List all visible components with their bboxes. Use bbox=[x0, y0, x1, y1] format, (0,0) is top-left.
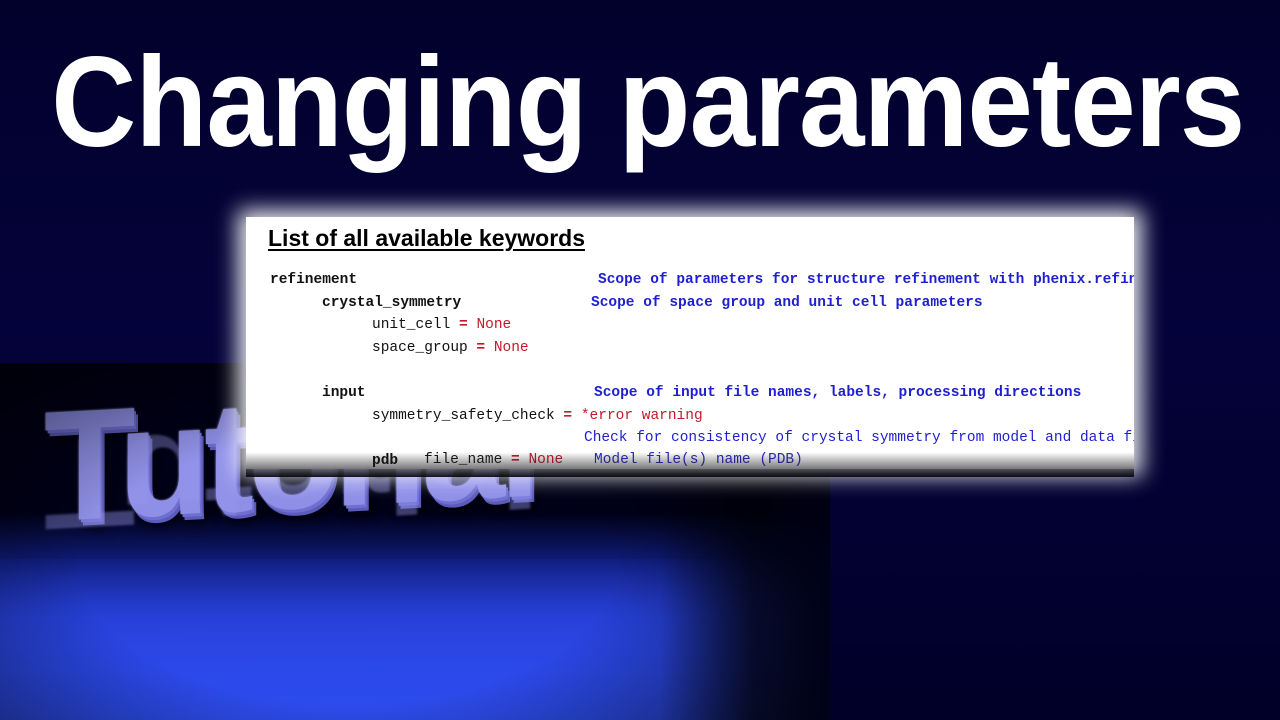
keyword-row: inputScope of input file names, labels, … bbox=[246, 382, 1134, 405]
keyword-row: space_group = None bbox=[246, 337, 1134, 360]
keyword-panel-heading: List of all available keywords bbox=[268, 225, 585, 252]
keyword-row: Check for consistency of crystal symmetr… bbox=[246, 427, 1134, 450]
keyword-row: symmetry_safety_check = *error warning bbox=[246, 405, 1134, 428]
keyword-list: refinementScope of parameters for struct… bbox=[246, 269, 1134, 469]
slide-root: Changing parameters Tutorial Tutorial Li… bbox=[0, 0, 1280, 720]
keyword-row-last: file_name = NoneModel file(s) name (PDB) bbox=[246, 452, 1134, 476]
page-title: Changing parameters bbox=[51, 36, 1229, 170]
keyword-description: Scope of space group and unit cell param… bbox=[591, 292, 983, 315]
keyword-equals: = bbox=[502, 452, 528, 468]
keyword-name: input bbox=[322, 382, 366, 405]
keyword-row: refinementScope of parameters for struct… bbox=[246, 269, 1134, 292]
keyword-equals: = bbox=[450, 317, 476, 333]
keyword-name: unit_cell = None bbox=[372, 314, 511, 337]
keyword-description: Model file(s) name (PDB) bbox=[594, 452, 803, 468]
keyword-description: Check for consistency of crystal symmetr… bbox=[584, 427, 1134, 450]
keyword-name: crystal_symmetry bbox=[322, 292, 461, 315]
keyword-value: None bbox=[528, 452, 563, 468]
keyword-value: *error warning bbox=[581, 408, 703, 424]
keyword-name: symmetry_safety_check = *error warning bbox=[372, 405, 703, 428]
keyword-name: refinement bbox=[270, 269, 357, 292]
keyword-value: None bbox=[494, 340, 529, 356]
keyword-equals: = bbox=[468, 340, 494, 356]
keyword-name: file_name = None bbox=[424, 452, 563, 468]
keyword-description: Scope of parameters for structure refine… bbox=[598, 269, 1134, 292]
keyword-description: Scope of input file names, labels, proce… bbox=[594, 382, 1081, 405]
keyword-equals: = bbox=[555, 408, 581, 424]
keyword-panel: List of all available keywords refinemen… bbox=[246, 217, 1134, 469]
keyword-name: space_group = None bbox=[372, 337, 529, 360]
keyword-row: crystal_symmetryScope of space group and… bbox=[246, 292, 1134, 315]
keyword-row: unit_cell = None bbox=[246, 314, 1134, 337]
keyword-row bbox=[246, 359, 1134, 382]
keyword-value: None bbox=[476, 317, 511, 333]
